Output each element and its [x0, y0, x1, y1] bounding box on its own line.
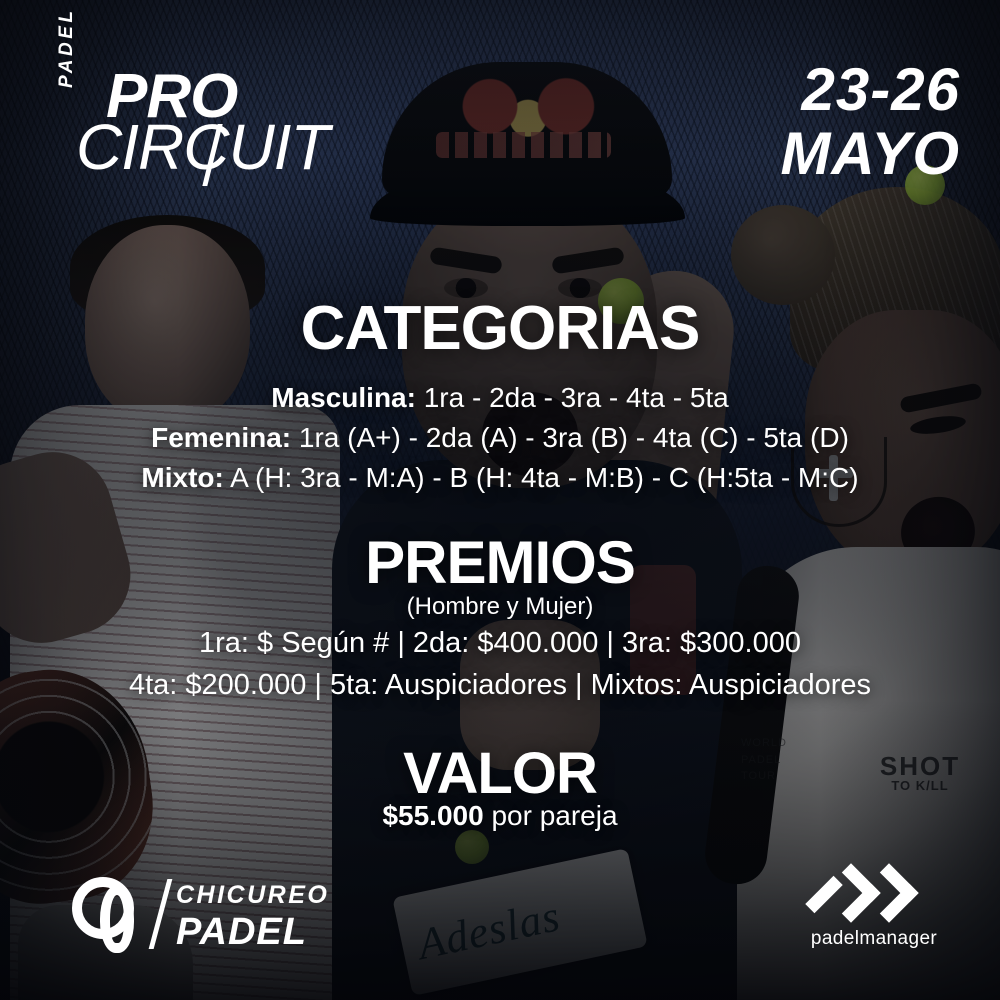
categoria-label-femenina: Femenina:: [151, 422, 291, 453]
event-date-month: MAYO: [780, 122, 960, 186]
categoria-label-mixto: Mixto:: [141, 462, 223, 493]
padelmanager-logo[interactable]: padelmanager: [790, 866, 958, 958]
categoria-label-masculina: Masculina:: [271, 382, 416, 413]
chicureo-slash-divider: [149, 879, 173, 949]
valor-amount: $55.000: [382, 800, 483, 831]
categoria-value-masculina: 1ra - 2da - 3ra - 4ta - 5ta: [416, 382, 729, 413]
event-date: 23-26 MAYO: [780, 58, 960, 185]
chicureo-drop-shape: [100, 885, 134, 953]
valor-heading: VALOR: [0, 740, 1000, 807]
padelmanager-wordmark: padelmanager: [790, 928, 958, 950]
poster-content: PADEL PRO CIRCUIT 23-26 MAYO CATEGORIAS …: [0, 0, 1000, 1000]
categorias-list: Masculina: 1ra - 2da - 3ra - 4ta - 5ta F…: [0, 378, 1000, 497]
categoria-value-mixto: A (H: 3ra - M:A) - B (H: 4ta - M:B) - C …: [224, 462, 859, 493]
padel-pro-circuit-logo: PADEL PRO CIRCUIT: [62, 62, 392, 182]
chicureo-padel-logo[interactable]: CHICUREO PADEL: [72, 875, 342, 955]
premios-list: 1ra: $ Según # | 2da: $400.000 | 3ra: $3…: [0, 622, 1000, 706]
valor-suffix: por pareja: [484, 800, 618, 831]
categorias-heading: CATEGORIAS: [0, 293, 1000, 364]
premios-row-2: 4ta: $200.000 | 5ta: Auspiciadores | Mix…: [0, 664, 1000, 706]
brand-padel-label: PADEL: [56, 8, 78, 88]
tournament-poster: Adeslas WORLD PADEL TOUR SHOT TO K/LL PA…: [0, 0, 1000, 1000]
event-date-days: 23-26: [780, 58, 960, 122]
padelmanager-chevron-icon: [790, 866, 958, 922]
categoria-row-femenina: Femenina: 1ra (A+) - 2da (A) - 3ra (B) -…: [0, 418, 1000, 458]
categoria-row-masculina: Masculina: 1ra - 2da - 3ra - 4ta - 5ta: [0, 378, 1000, 418]
chicureo-padel-mark-icon: [72, 877, 146, 951]
chicureo-logo-line2: PADEL: [176, 911, 307, 954]
premios-heading: PREMIOS: [0, 528, 1000, 597]
chicureo-logo-line1: CHICUREO: [176, 881, 329, 910]
premios-row-1: 1ra: $ Según # | 2da: $400.000 | 3ra: $3…: [0, 622, 1000, 664]
brand-circuit-text: CIRCUIT: [76, 120, 329, 175]
categoria-row-mixto: Mixto: A (H: 3ra - M:A) - B (H: 4ta - M:…: [0, 458, 1000, 498]
padelmanager-chevron-2: [859, 863, 918, 922]
categoria-value-femenina: 1ra (A+) - 2da (A) - 3ra (B) - 4ta (C) -…: [291, 422, 849, 453]
premios-subtitle: (Hombre y Mujer): [0, 593, 1000, 621]
valor-price: $55.000 por pareja: [0, 800, 1000, 832]
